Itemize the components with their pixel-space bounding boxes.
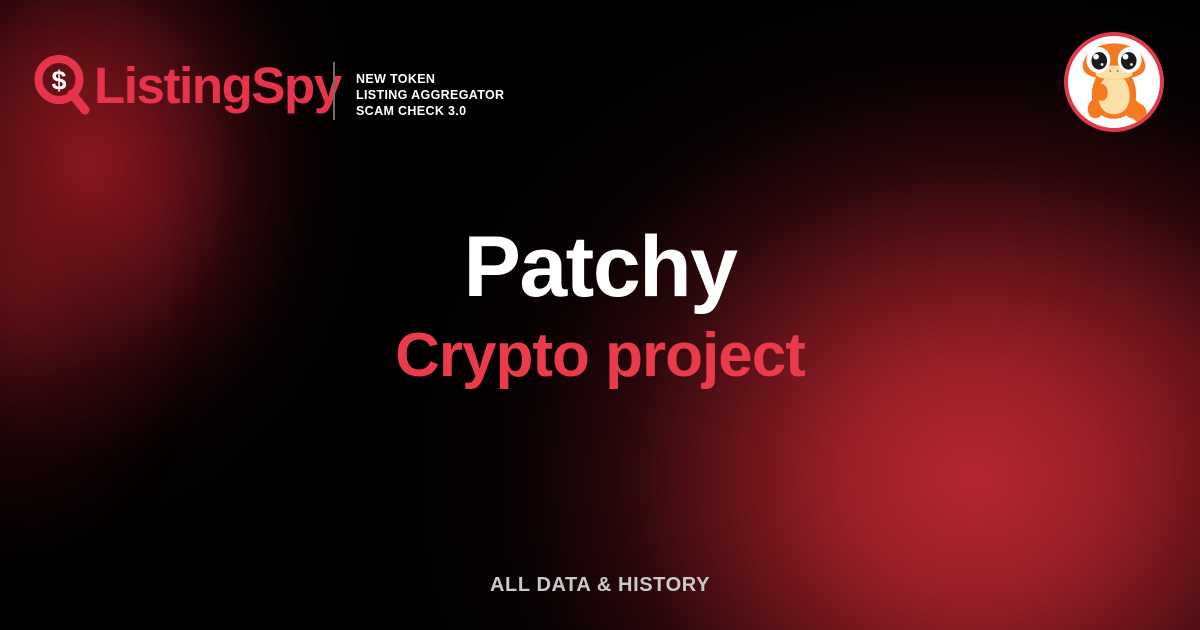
brand-logo[interactable]: $ ListingSpy [34, 55, 341, 115]
page-title: Patchy [463, 224, 736, 312]
brand-tagline: NEW TOKEN LISTING AGGREGATOR SCAM CHECK … [356, 71, 504, 119]
tagline-line-2: LISTING AGGREGATOR [356, 87, 504, 103]
svg-text:$: $ [51, 66, 66, 96]
brand-wordmark: ListingSpy [94, 60, 341, 111]
background-glow-right-edge [860, 120, 1200, 630]
footer-text: ALL DATA & HISTORY [490, 574, 710, 597]
magnifier-dollar-icon: $ [34, 55, 90, 115]
footer: ALL DATA & HISTORY [0, 574, 1200, 597]
gecko-mascot-icon [1068, 36, 1160, 128]
header: $ ListingSpy NEW TOKEN LISTING AGGREGATO… [0, 0, 1200, 160]
tagline-line-1: NEW TOKEN [356, 71, 504, 87]
page-subtitle: Crypto project [395, 323, 805, 388]
tagline-line-3: SCAM CHECK 3.0 [356, 103, 504, 119]
avatar[interactable] [1064, 32, 1164, 132]
brand-divider [333, 62, 335, 120]
share-card: $ ListingSpy NEW TOKEN LISTING AGGREGATO… [0, 0, 1200, 630]
